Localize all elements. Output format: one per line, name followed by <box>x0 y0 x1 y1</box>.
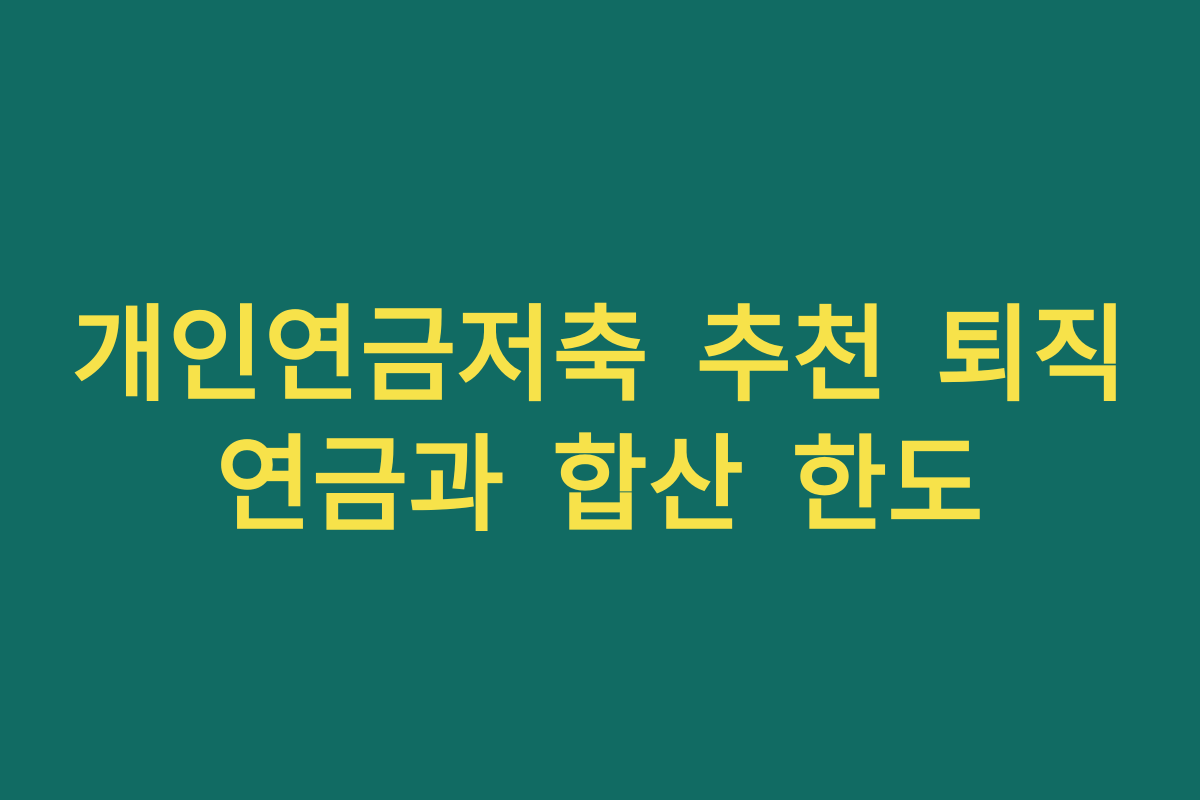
title-block: 개인연금저축 추천 퇴직 연금과 합산 한도 <box>0 290 1200 550</box>
title-line-2: 연금과 합산 한도 <box>0 420 1200 550</box>
thumbnail-canvas: 개인연금저축 추천 퇴직 연금과 합산 한도 <box>0 0 1200 800</box>
title-line-1: 개인연금저축 추천 퇴직 <box>0 290 1200 420</box>
